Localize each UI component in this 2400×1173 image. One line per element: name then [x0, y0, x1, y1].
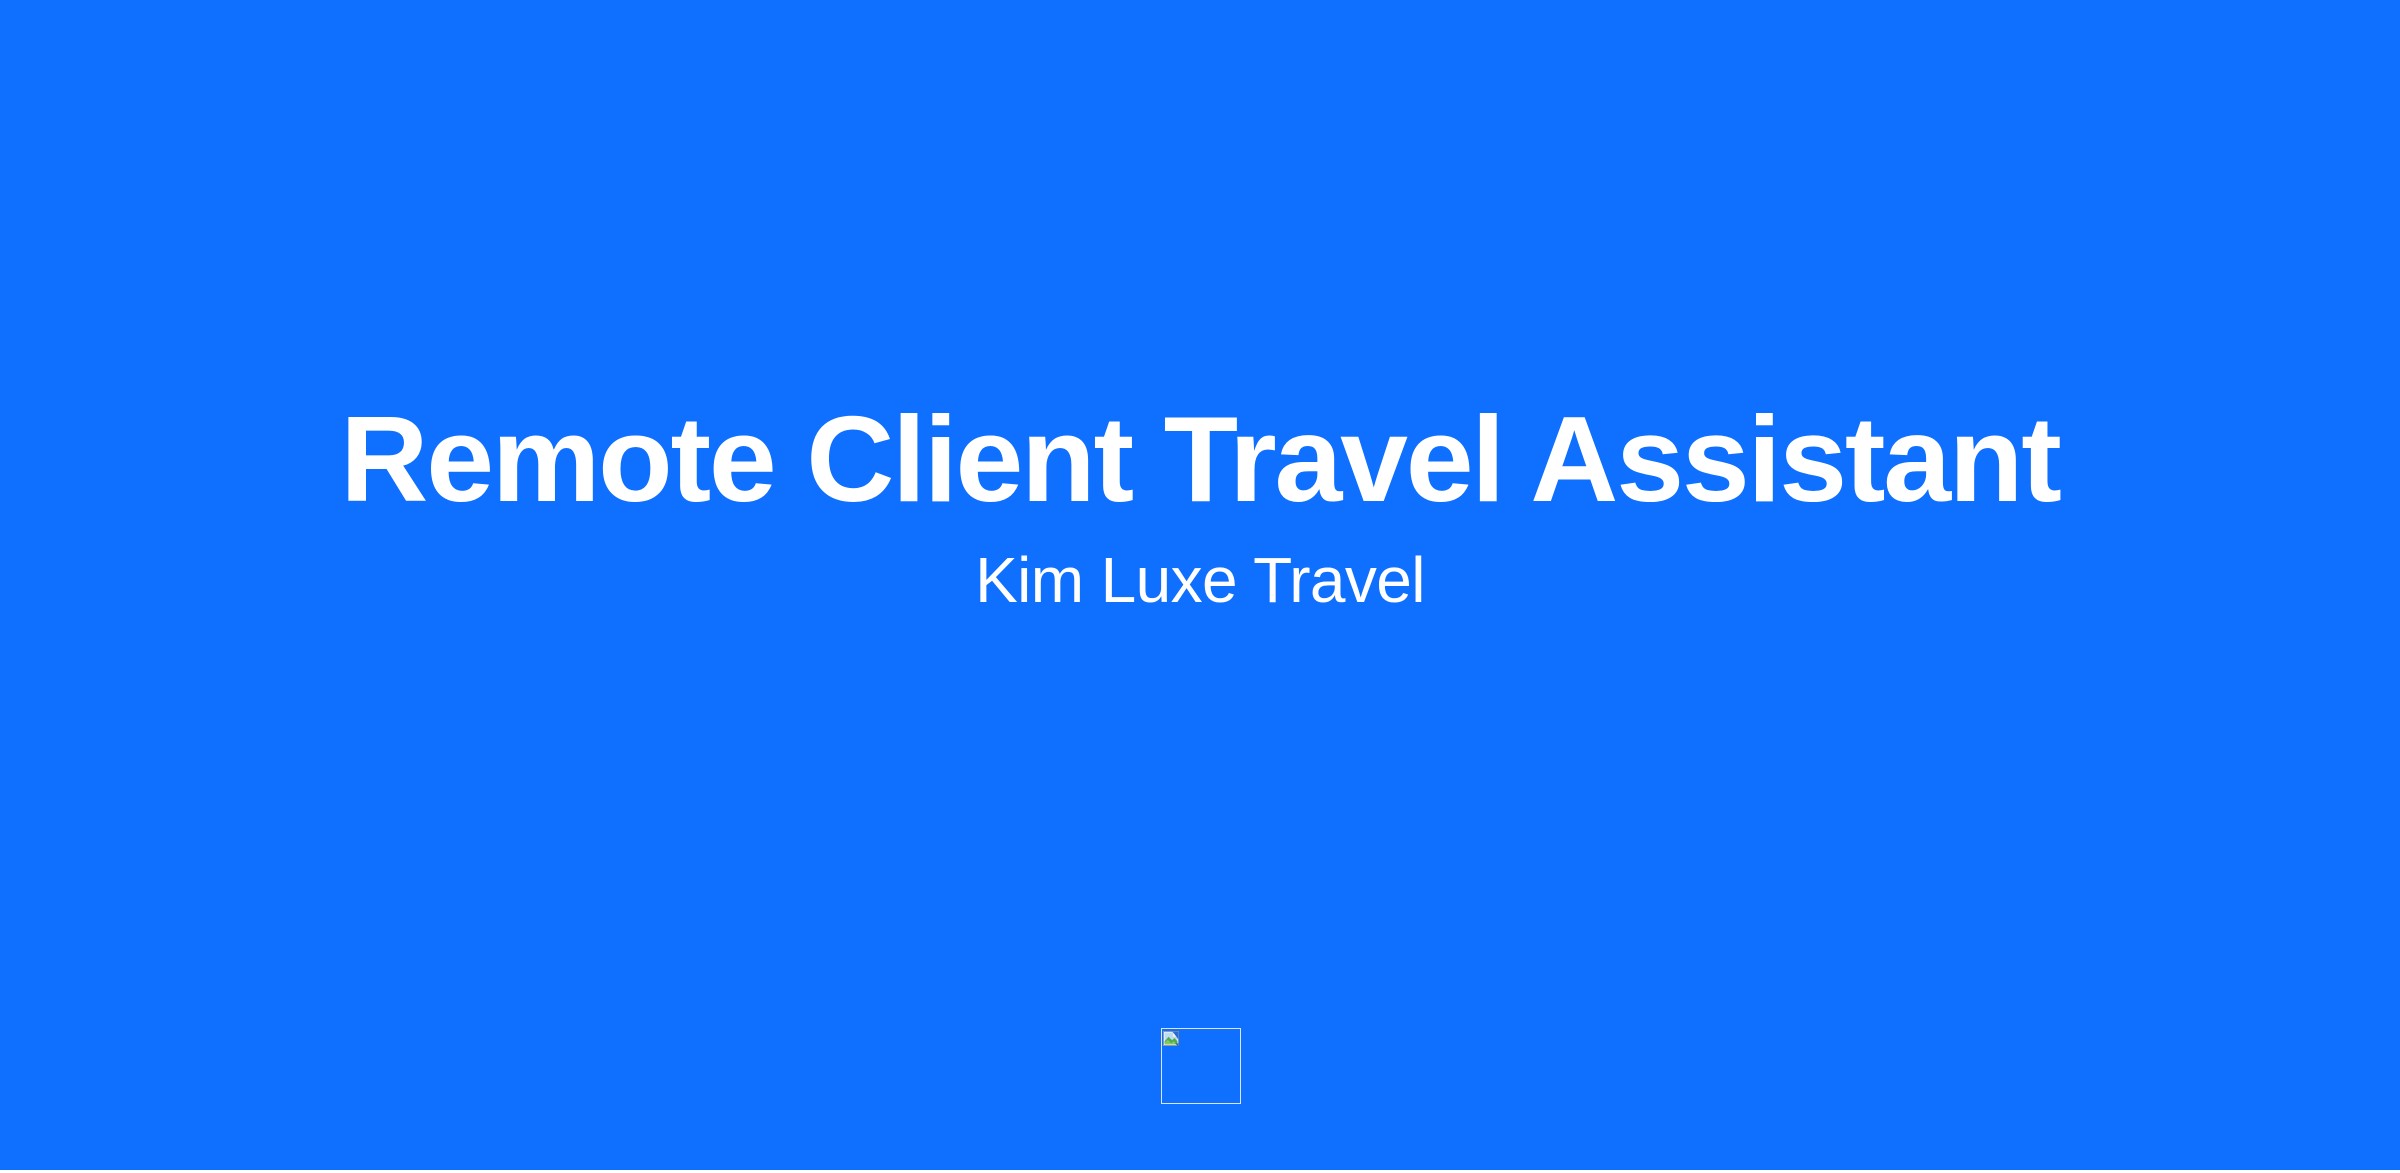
page-subtitle: Kim Luxe Travel	[0, 548, 2400, 612]
page-title: Remote Client Travel Assistant	[0, 398, 2400, 520]
broken-image-placeholder[interactable]	[1161, 1028, 1241, 1104]
title-slide: Remote Client Travel Assistant Kim Luxe …	[0, 0, 2400, 1170]
hero-text-block: Remote Client Travel Assistant Kim Luxe …	[0, 0, 2400, 1170]
broken-image-icon	[1163, 1030, 1184, 1051]
